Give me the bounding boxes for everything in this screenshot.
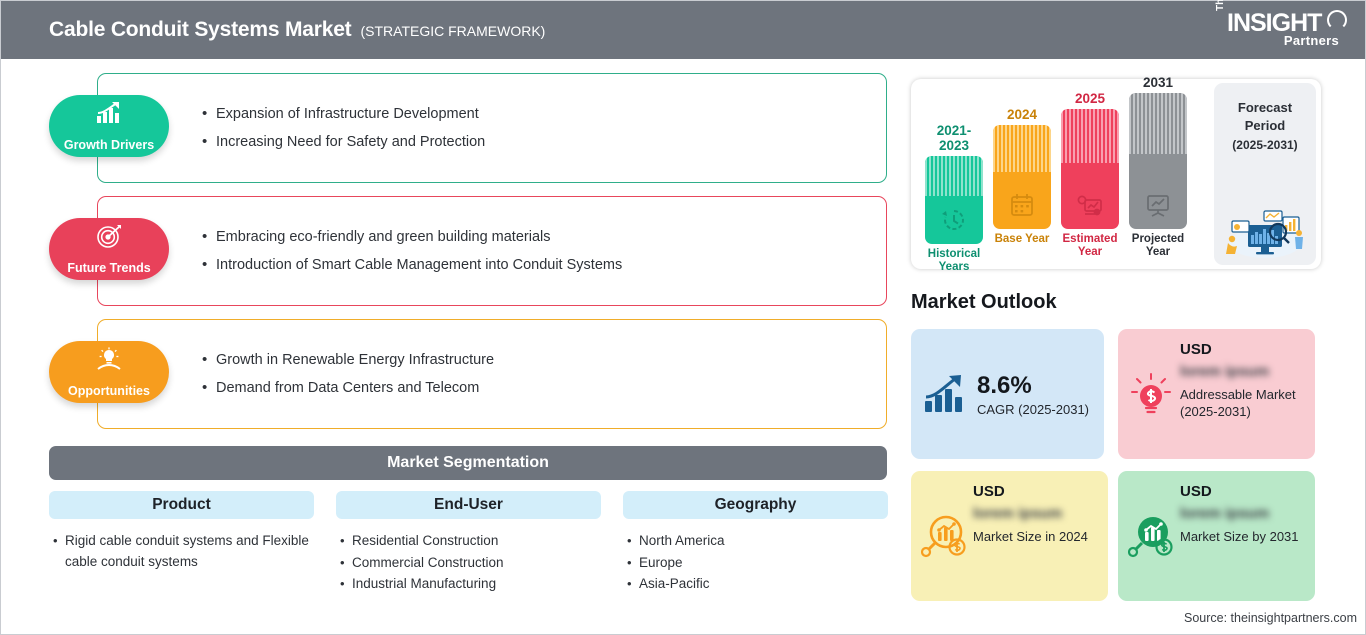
forecast-period-panel: Forecast Period (2025-2031) xyxy=(1214,83,1316,265)
timeline-item-base: 2024 xyxy=(991,107,1053,246)
card-market-size-2031: USD lorem ipsum Market Size by 2031 xyxy=(1118,471,1315,601)
bullet-item: Expansion of Infrastructure Development xyxy=(202,100,886,128)
segment-column-product: Product Rigid cable conduit systems and … xyxy=(49,491,314,573)
logo-arc-icon xyxy=(1327,10,1347,30)
header-title-wrap: Cable Conduit Systems Market (STRATEGIC … xyxy=(49,18,545,42)
redacted-value: lorem ipsum xyxy=(1180,363,1328,380)
right-column: 2021-2023 Historical Years xyxy=(906,59,1365,634)
timeline-year: 2021-2023 xyxy=(923,123,985,153)
badge-label: Future Trends xyxy=(67,261,150,275)
timeline-caption: Estimated Year xyxy=(1059,233,1121,259)
target-dart-icon xyxy=(96,224,122,248)
timeline-item-projected: 2031 Projected Year xyxy=(1127,75,1189,259)
timeline-bar xyxy=(1129,93,1187,229)
source-attribution: Source: theinsightpartners.com xyxy=(1184,611,1357,625)
forecast-line1: Forecast xyxy=(1214,99,1316,117)
market-outlook-title: Market Outlook xyxy=(911,291,1057,314)
card-caption: Addressable Market (2025-2031) xyxy=(1180,386,1305,420)
bullet-item: Growth in Renewable Energy Infrastructur… xyxy=(202,346,886,374)
bar-chart-arrow-icon xyxy=(96,101,122,125)
list-item: North America xyxy=(627,531,888,552)
page-header: Cable Conduit Systems Market (STRATEGIC … xyxy=(1,1,1365,59)
timeline-caption: Base Year xyxy=(991,233,1053,246)
forecast-range: (2025-2031) xyxy=(1214,138,1316,152)
bullet-item: Increasing Need for Safety and Protectio… xyxy=(202,128,886,156)
redacted-value: lorem ipsum xyxy=(973,505,1121,522)
card-caption: Market Size by 2031 xyxy=(1180,528,1305,545)
panel-opportunities: Growth in Renewable Energy Infrastructur… xyxy=(97,319,887,429)
timeline-bar xyxy=(925,156,983,244)
magnifier-chart-dollar-icon xyxy=(921,513,967,559)
calendar-icon xyxy=(1009,193,1035,217)
timeline-year: 2024 xyxy=(991,107,1053,122)
segment-column-geography: Geography North America Europe Asia-Paci… xyxy=(623,491,888,596)
segment-list: Rigid cable conduit systems and Flexible… xyxy=(49,531,314,572)
list-item: Asia-Pacific xyxy=(627,574,888,595)
currency-label: USD xyxy=(1180,483,1305,500)
market-segmentation-header: Market Segmentation xyxy=(49,446,887,480)
timeline-year: 2031 xyxy=(1127,75,1189,90)
card-market-size-2024: USD lorem ipsum Market Size in 2024 xyxy=(911,471,1108,601)
list-item: Residential Construction xyxy=(340,531,601,552)
segment-list: Residential Construction Commercial Cons… xyxy=(336,531,601,595)
timeline-bar xyxy=(1061,109,1119,229)
timeline-item-estimated: 2025 Estimated xyxy=(1059,91,1121,259)
badge-label: Growth Drivers xyxy=(64,138,154,152)
lightbulb-hand-icon xyxy=(96,347,122,371)
infographic-page: Cable Conduit Systems Market (STRATEGIC … xyxy=(0,0,1366,635)
bullet-item: Demand from Data Centers and Telecom xyxy=(202,374,886,402)
growth-chart-icon xyxy=(923,373,969,415)
presentation-chart-icon xyxy=(1145,193,1171,217)
panel-future-trends: Embracing eco-friendly and green buildin… xyxy=(97,196,887,306)
timeline-year: 2025 xyxy=(1059,91,1121,106)
segment-title: End-User xyxy=(336,491,601,519)
timeline-bar-stripes xyxy=(925,156,983,196)
page-subtitle: (STRATEGIC FRAMEWORK) xyxy=(360,23,545,39)
segment-title: Product xyxy=(49,491,314,519)
magnifier-chart-dollar-icon xyxy=(1128,513,1174,559)
data-analysis-illustration xyxy=(1220,203,1310,259)
page-title: Cable Conduit Systems Market xyxy=(49,18,351,42)
timeline-bar-stripes xyxy=(1129,93,1187,154)
currency-label: USD xyxy=(973,483,1098,500)
badge-label: Opportunities xyxy=(68,384,150,398)
segment-list: North America Europe Asia-Pacific xyxy=(623,531,888,595)
list-item: Industrial Manufacturing xyxy=(340,574,601,595)
timeline-bar-stripes xyxy=(993,125,1051,172)
bulb-dollar-icon xyxy=(1128,371,1174,417)
timeline-bars: 2021-2023 Historical Years xyxy=(923,79,1203,269)
analytics-gear-icon xyxy=(1077,193,1103,217)
badge-future-trends[interactable]: Future Trends xyxy=(49,218,169,280)
forecast-line2: Period xyxy=(1214,117,1316,135)
left-column: Expansion of Infrastructure Development … xyxy=(1,59,906,634)
panel-growth-drivers: Expansion of Infrastructure Development … xyxy=(97,73,887,183)
timeline-bar-stripes xyxy=(1061,109,1119,163)
bullet-item: Introduction of Smart Cable Management i… xyxy=(202,251,886,279)
bullet-item: Embracing eco-friendly and green buildin… xyxy=(202,223,886,251)
timeline-chart: 2021-2023 Historical Years xyxy=(911,79,1321,269)
logo-the-text: The xyxy=(1215,0,1226,11)
segment-column-end-user: End-User Residential Construction Commer… xyxy=(336,491,601,596)
timeline-caption: Historical Years xyxy=(923,248,985,274)
card-caption: Market Size in 2024 xyxy=(973,528,1098,545)
currency-label: USD xyxy=(1180,341,1305,358)
clock-history-icon xyxy=(941,208,967,232)
badge-opportunities[interactable]: Opportunities xyxy=(49,341,169,403)
logo-partners-text: Partners xyxy=(1284,33,1339,48)
badge-growth-drivers[interactable]: Growth Drivers xyxy=(49,95,169,157)
list-item: Europe xyxy=(627,553,888,574)
card-addressable-market: USD lorem ipsum Addressable Market (2025… xyxy=(1118,329,1315,459)
list-item: Commercial Construction xyxy=(340,553,601,574)
segment-title: Geography xyxy=(623,491,888,519)
cagr-text: 8.6% CAGR (2025-2031) xyxy=(977,372,1089,417)
timeline-item-historical: 2021-2023 Historical Years xyxy=(923,123,985,274)
timeline-bar xyxy=(993,125,1051,229)
timeline-caption: Projected Year xyxy=(1127,233,1189,259)
cagr-value: 8.6% xyxy=(977,372,1089,400)
card-cagr: 8.6% CAGR (2025-2031) xyxy=(911,329,1104,459)
list-item: Rigid cable conduit systems and Flexible… xyxy=(53,531,314,572)
insight-partners-logo[interactable]: The INSIGHT Partners xyxy=(1215,9,1347,51)
redacted-value: lorem ipsum xyxy=(1180,505,1328,522)
cagr-label: CAGR (2025-2031) xyxy=(977,402,1089,417)
